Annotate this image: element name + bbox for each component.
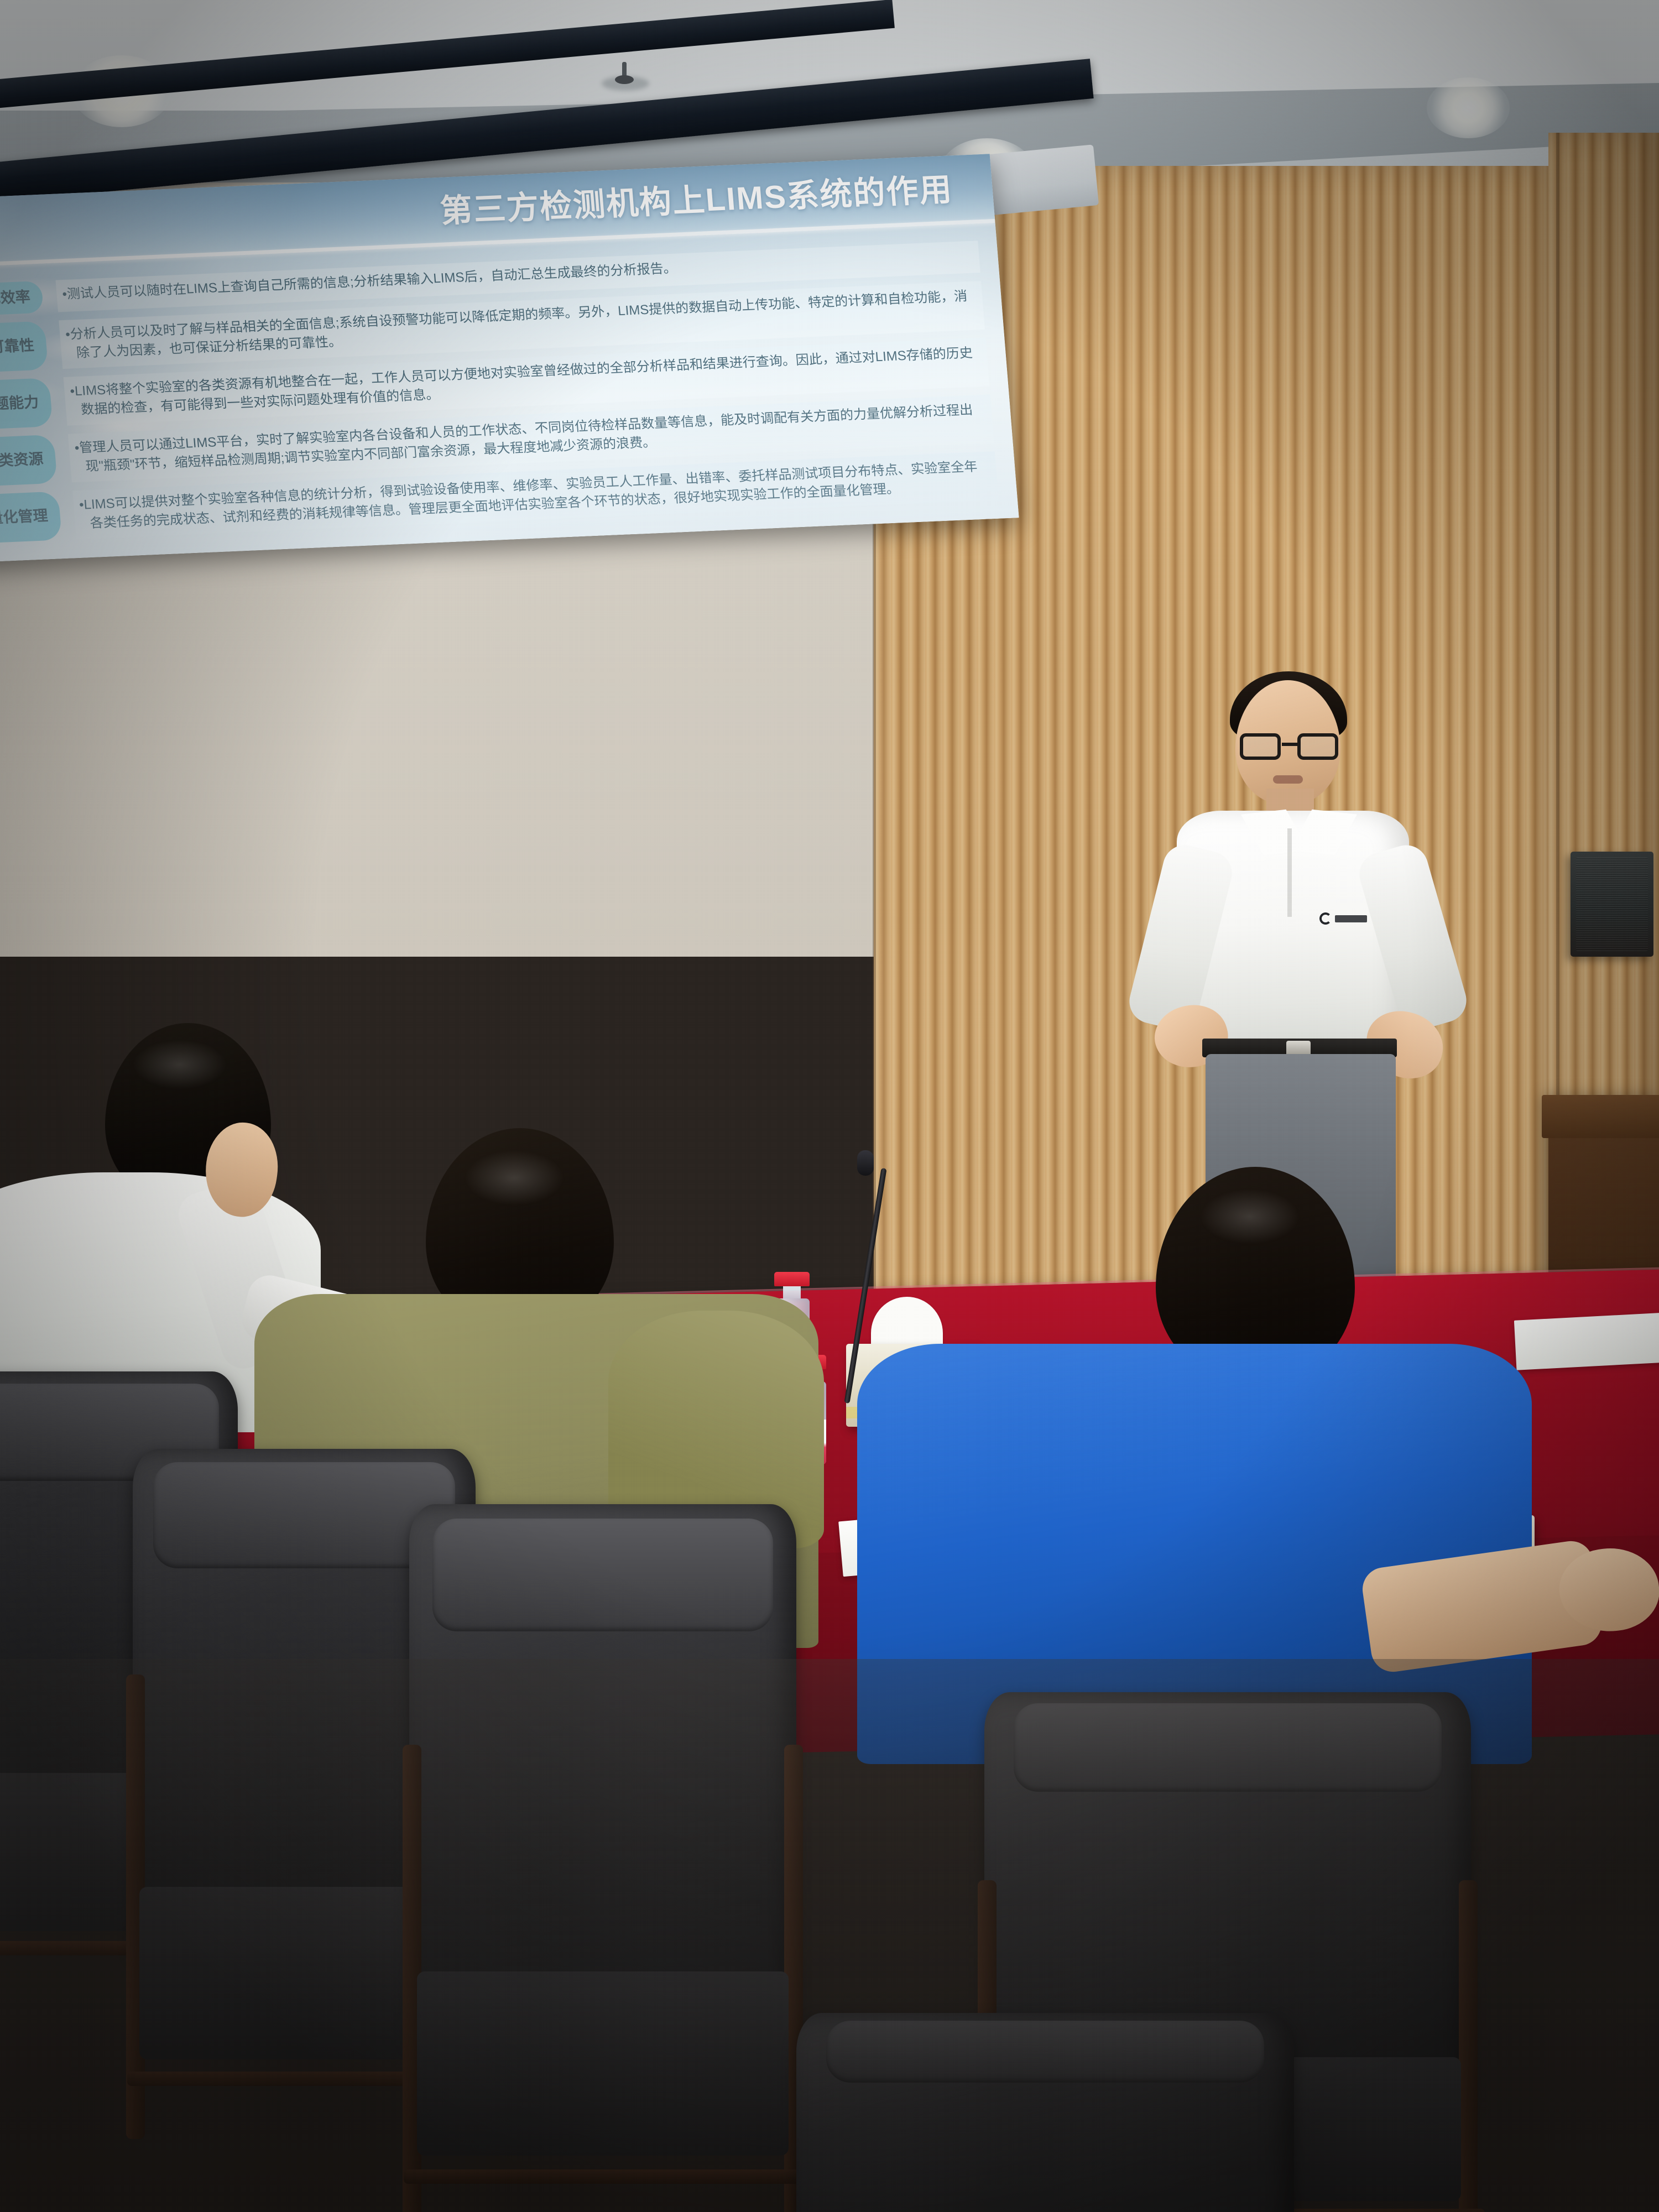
sprinkler-icon — [615, 62, 634, 87]
presenter-mouth — [1273, 775, 1303, 784]
slide-row-tag: 量化管理 — [0, 492, 62, 548]
slide-row-tag: 样品测试效率 — [0, 281, 44, 321]
speaker-grille — [1576, 857, 1648, 951]
wall-speaker — [1571, 852, 1653, 957]
slide-row-tag: 分析结果可靠性 — [0, 321, 48, 377]
notepad — [1514, 1312, 1659, 1370]
photo-scene: Godwell 标软件 AOSOFT 第三方检测机构上LIMS系统的作用 样品测… — [0, 0, 1659, 2212]
presenter-shirt-placket — [1287, 828, 1292, 917]
slide-body: 样品测试效率 测试人员可以随时在LIMS上查询自己所需的信息;分析结果输入LIM… — [0, 230, 1019, 563]
lectern-top — [1542, 1095, 1659, 1138]
projection-screen: 标软件 AOSOFT 第三方检测机构上LIMS系统的作用 样品测试效率 测试人员… — [0, 154, 1019, 563]
shirt-logo-icon — [1319, 911, 1367, 926]
screen-surface: 标软件 AOSOFT 第三方检测机构上LIMS系统的作用 样品测试效率 测试人员… — [0, 154, 1019, 563]
floor — [0, 1659, 1659, 2212]
downlight-icon — [1427, 77, 1510, 138]
slide-row-tag: 及时复杂分析问题能力 — [0, 378, 53, 434]
slide-row-tag: 实验室各类资源 — [0, 435, 58, 491]
glasses-icon — [1240, 733, 1338, 761]
